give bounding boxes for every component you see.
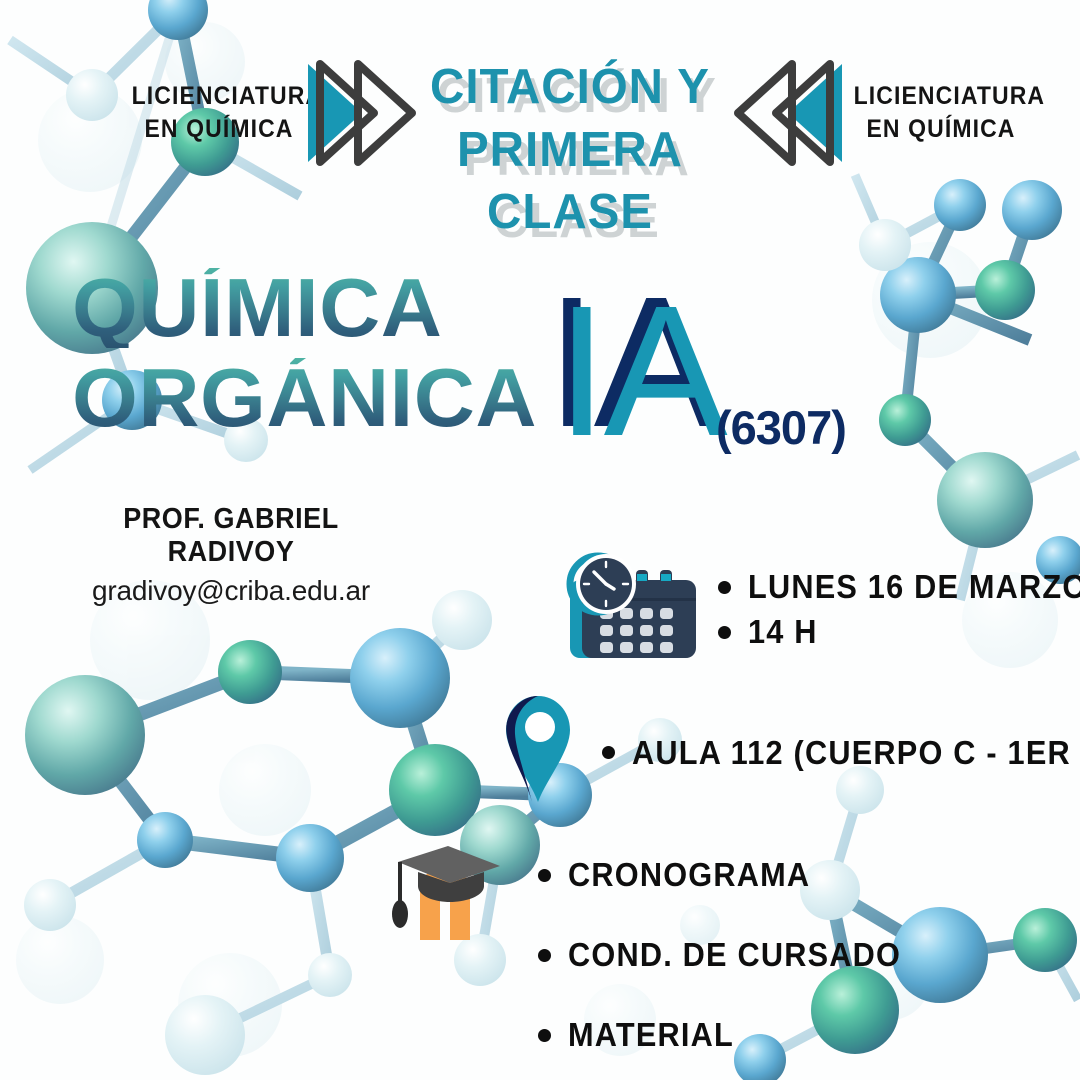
program-label-left-line1: LICIENCIATURA bbox=[132, 80, 307, 113]
location-row: AULA 112 (CUERPO C - 1ER PISO) bbox=[498, 694, 1080, 811]
bullet-dot bbox=[538, 949, 551, 962]
schedule-item-0: LUNES 16 DE MARZO bbox=[748, 568, 1080, 606]
program-label-left: LICIENCIATURA EN QUÍMICA bbox=[132, 80, 307, 146]
course-title: QUÍMICA ORGÁNICA bbox=[72, 268, 528, 437]
schedule-row: LUNES 16 DE MARZO 14 H bbox=[556, 552, 1080, 667]
bullet-dot bbox=[718, 626, 731, 639]
map-pin-icon bbox=[498, 694, 582, 811]
course-level: IA bbox=[556, 268, 724, 475]
course-code: (6307) bbox=[716, 400, 846, 455]
schedule-list: LUNES 16 DE MARZO 14 H bbox=[718, 561, 1080, 658]
list-item: 14 H bbox=[718, 613, 1080, 651]
bullet-dot bbox=[538, 869, 551, 882]
list-item[interactable]: COND. DE CURSADO bbox=[538, 936, 926, 974]
moodle-item-1: COND. DE CURSADO bbox=[568, 936, 901, 974]
professor-email[interactable]: gradivoy@criba.edu.ar bbox=[76, 575, 386, 607]
list-item: LUNES 16 DE MARZO bbox=[718, 568, 1080, 606]
calendar-clock-icon bbox=[556, 552, 698, 667]
bullet-dot bbox=[602, 746, 615, 759]
course-title-line2: ORGÁNICA bbox=[72, 358, 537, 438]
program-label-right-line2: EN QUÍMICA bbox=[854, 113, 1029, 146]
program-label-right: LICIENCIATURA EN QUÍMICA bbox=[854, 80, 1029, 146]
bullet-dot bbox=[538, 1029, 551, 1042]
page-title: CITACIÓN Y PRIMERA CLASE bbox=[380, 56, 760, 244]
moodle-list: CRONOGRAMA COND. DE CURSADO MATERIAL bbox=[538, 856, 926, 1054]
bullet-dot bbox=[718, 581, 731, 594]
headline-line2: PRIMERA CLASE bbox=[386, 119, 755, 244]
list-item[interactable]: MATERIAL bbox=[538, 1016, 926, 1054]
location-list: AULA 112 (CUERPO C - 1ER PISO) bbox=[602, 734, 1080, 772]
schedule-item-1: 14 H bbox=[748, 613, 818, 651]
course-title-line1: QUÍMICA bbox=[72, 268, 537, 348]
professor-block: PROF. GABRIEL RADIVOY gradivoy@criba.edu… bbox=[76, 503, 386, 607]
location-item-0: AULA 112 (CUERPO C - 1ER PISO) bbox=[632, 734, 1080, 772]
moodle-item-0: CRONOGRAMA bbox=[568, 856, 810, 894]
moodle-logo-icon bbox=[388, 840, 512, 955]
professor-name: PROF. GABRIEL RADIVOY bbox=[87, 503, 375, 569]
headline-line1: CITACIÓN Y bbox=[386, 56, 755, 119]
list-item: AULA 112 (CUERPO C - 1ER PISO) bbox=[602, 734, 1080, 772]
moodle-item-2: MATERIAL bbox=[568, 1016, 734, 1054]
course-level-block: IA IA (6307) bbox=[556, 290, 724, 454]
program-label-left-line2: EN QUÍMICA bbox=[132, 113, 307, 146]
program-label-right-line1: LICIENCIATURA bbox=[854, 80, 1029, 113]
moodle-row: CRONOGRAMA COND. DE CURSADO MATERIAL bbox=[388, 840, 926, 1054]
poster-canvas: LICIENCIATURA EN QUÍMICA CITACIÓN Y PRIM… bbox=[0, 0, 1080, 1080]
list-item[interactable]: CRONOGRAMA bbox=[538, 856, 926, 894]
